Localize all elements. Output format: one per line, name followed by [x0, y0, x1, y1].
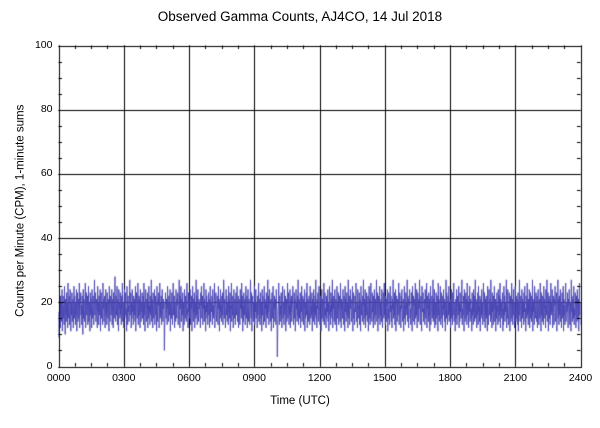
x-tick-label: 0900: [224, 373, 284, 384]
gamma-counts-figure: Observed Gamma Counts, AJ4CO, 14 Jul 201…: [0, 0, 600, 428]
x-tick-label: 2100: [485, 373, 545, 384]
y-tick-label: 20: [13, 297, 53, 308]
x-tick-label: 2400: [551, 373, 600, 384]
x-tick-label: 0000: [29, 373, 89, 384]
chart-title: Observed Gamma Counts, AJ4CO, 14 Jul 201…: [0, 10, 600, 24]
x-tick-label: 1500: [355, 373, 415, 384]
x-tick-label: 1200: [290, 373, 350, 384]
y-tick-label: 0: [13, 361, 53, 372]
x-tick-label: 0600: [159, 373, 219, 384]
y-tick-label: 80: [13, 104, 53, 115]
chart-plot-canvas: [0, 0, 600, 428]
x-tick-label: 0300: [94, 373, 154, 384]
y-tick-label: 40: [13, 233, 53, 244]
y-tick-label: 60: [13, 168, 53, 179]
x-tick-label: 1800: [420, 373, 480, 384]
x-axis-label: Time (UTC): [0, 396, 600, 408]
y-tick-label: 100: [13, 40, 53, 51]
y-axis-label: Counts per Minute (CPM), 1-minute sums: [15, 51, 27, 371]
